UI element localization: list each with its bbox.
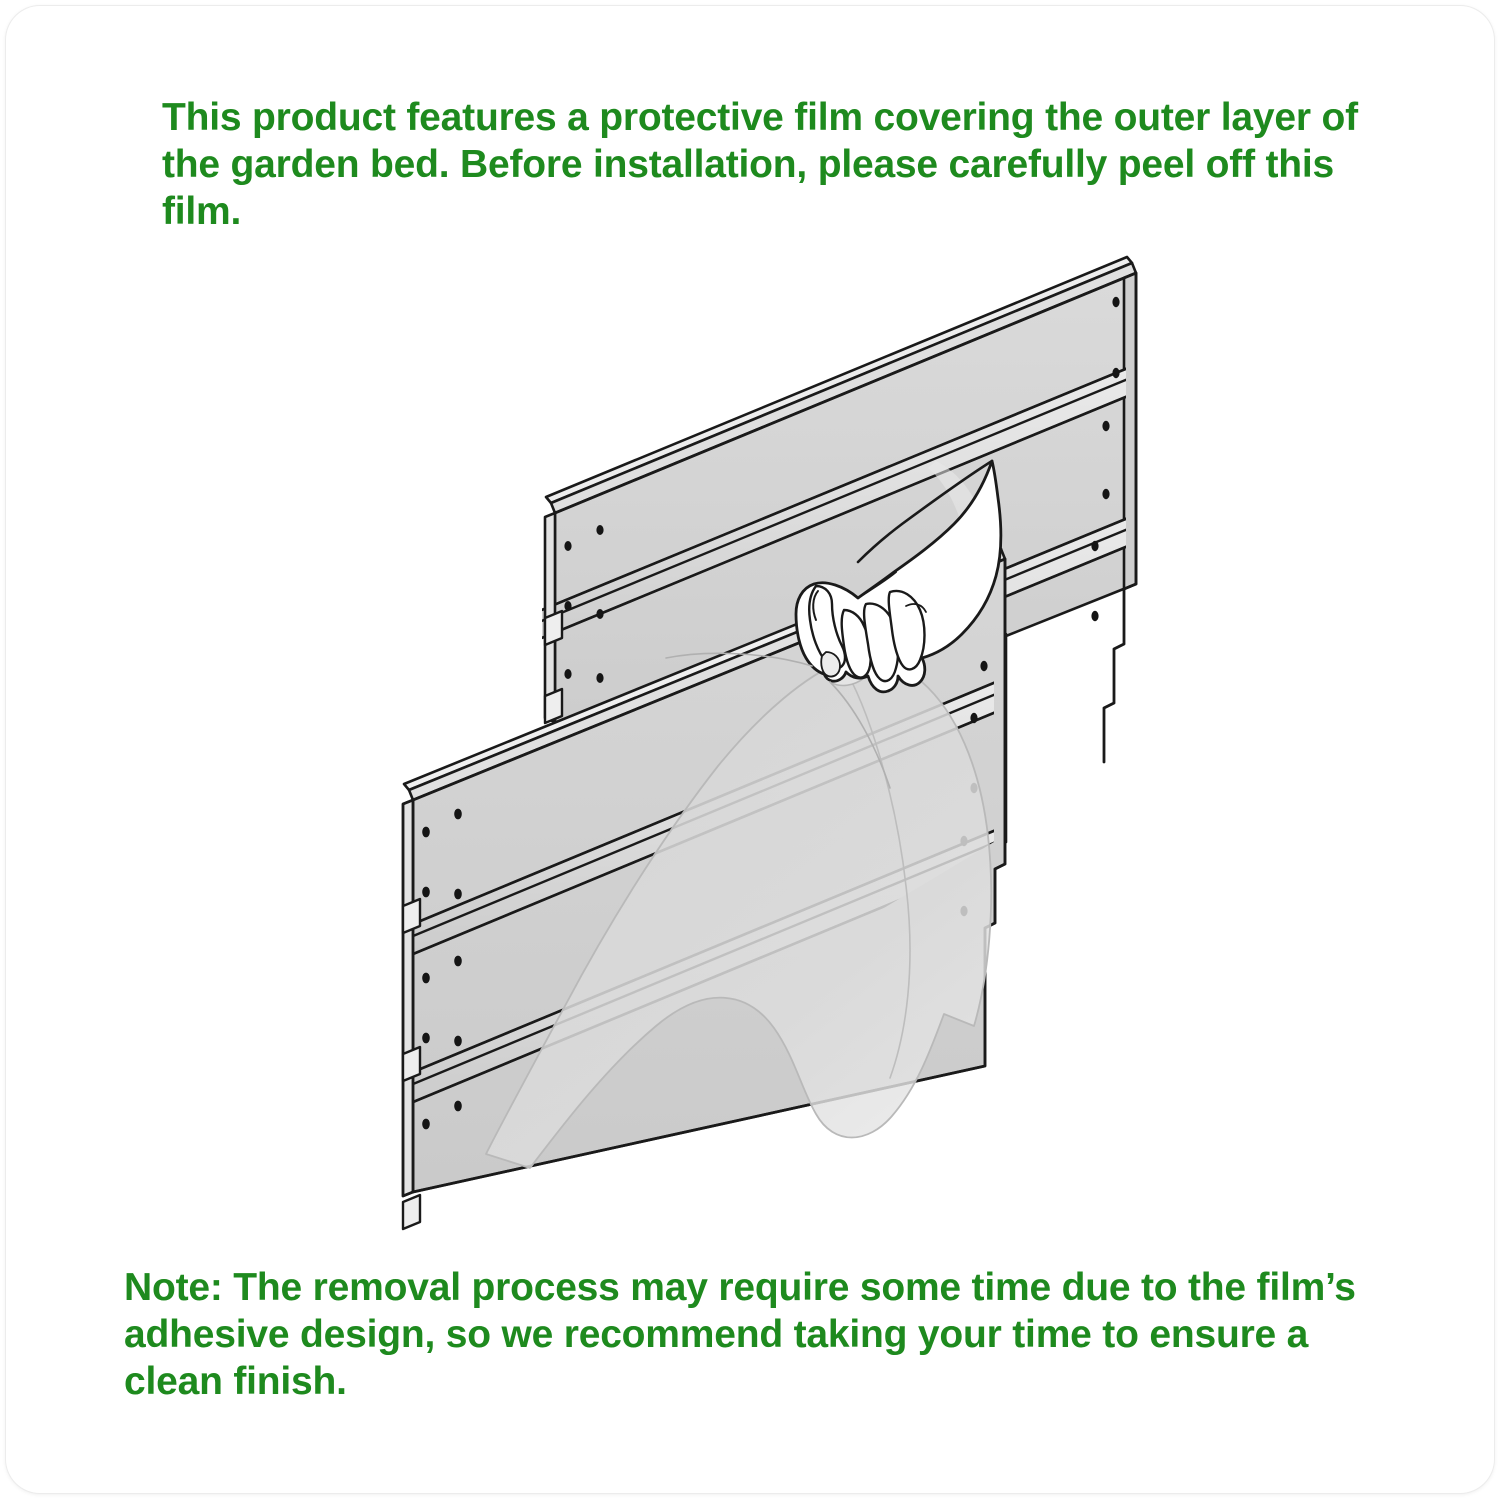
instruction-card: This product features a protective film … bbox=[6, 6, 1494, 1493]
screenshot-root: This product features a protective film … bbox=[0, 0, 1500, 1499]
front-panel-left-flange bbox=[403, 800, 413, 1196]
illustration-linework bbox=[336, 257, 1266, 1282]
back-panel-step-edge-c bbox=[1104, 703, 1114, 708]
bottom-note-text: Note: The removal process may require so… bbox=[124, 1264, 1409, 1405]
back-panel-step-edge-b bbox=[1114, 644, 1124, 649]
